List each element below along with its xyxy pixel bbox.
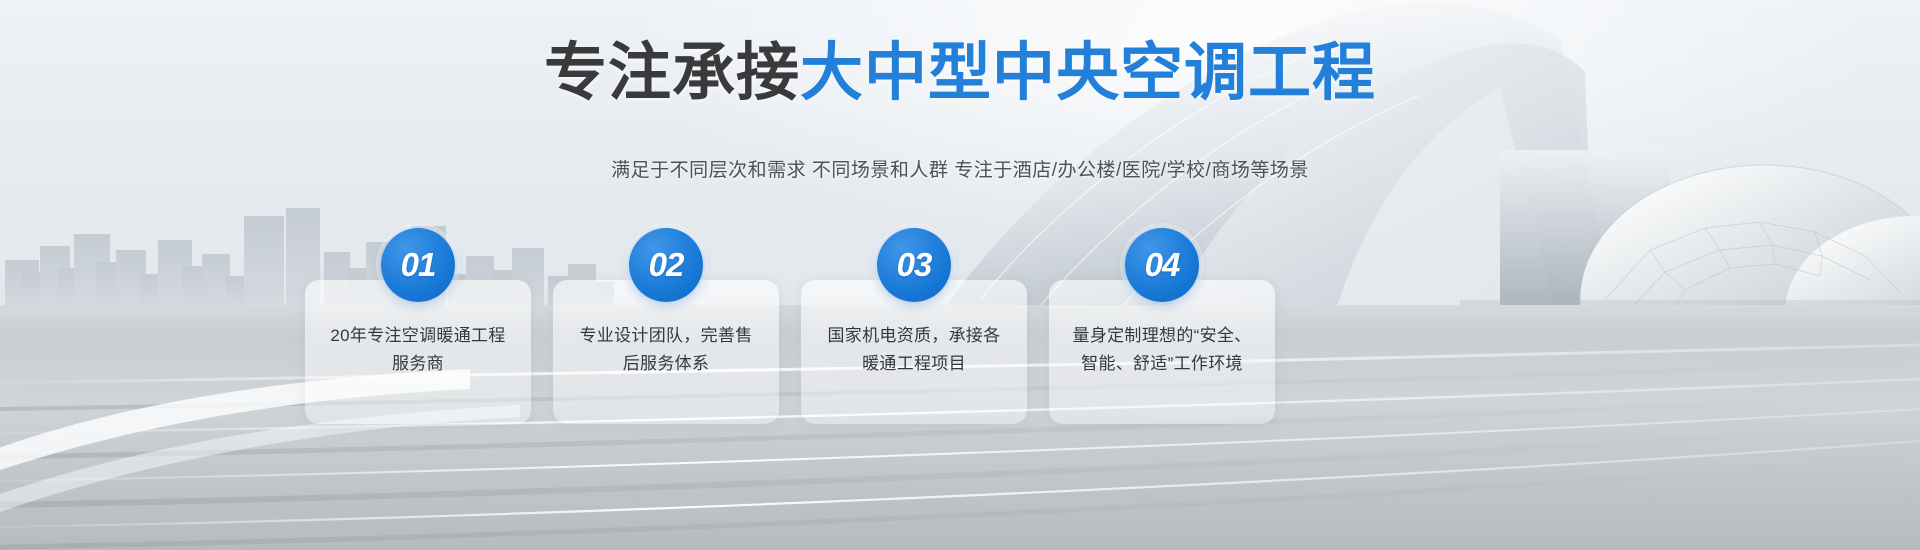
feature-card[interactable]: 03 国家机电资质，承接各暖通工程项目: [801, 280, 1027, 424]
headline-dark: 专注承接: [544, 38, 800, 108]
feature-number: 02: [649, 246, 684, 284]
headline-blue: 大中型中央空调工程: [800, 38, 1376, 108]
feature-card[interactable]: 02 专业设计团队，完善售后服务体系: [553, 280, 779, 424]
skyline-building: [244, 216, 284, 312]
feature-number-badge: 01: [381, 228, 455, 302]
feature-number-badge: 03: [877, 228, 951, 302]
feature-text: 国家机电资质，承接各暖通工程项目: [821, 322, 1007, 377]
feature-text: 量身定制理想的“安全、智能、舒适”工作环境: [1069, 322, 1255, 377]
feature-card[interactable]: 01 20年专注空调暖通工程服务商: [305, 280, 531, 424]
feature-number: 01: [401, 246, 436, 284]
hero-banner: 专注承接大中型中央空调工程 满足于不同层次和需求 不同场景和人群 专注于酒店/办…: [0, 0, 1920, 550]
page-title: 专注承接大中型中央空调工程: [0, 42, 1920, 105]
feature-text: 20年专注空调暖通工程服务商: [325, 322, 511, 377]
feature-number-badge: 04: [1125, 228, 1199, 302]
feature-card-list: 01 20年专注空调暖通工程服务商 02 专业设计团队，完善售后服务体系 03 …: [305, 280, 1575, 430]
feature-number: 04: [1145, 246, 1180, 284]
feature-number-badge: 02: [629, 228, 703, 302]
feature-card[interactable]: 04 量身定制理想的“安全、智能、舒适”工作环境: [1049, 280, 1275, 424]
feature-number: 03: [897, 246, 932, 284]
feature-text: 专业设计团队，完善售后服务体系: [573, 322, 759, 377]
page-subtitle: 满足于不同层次和需求 不同场景和人群 专注于酒店/办公楼/医院/学校/商场等场景: [0, 155, 1920, 182]
